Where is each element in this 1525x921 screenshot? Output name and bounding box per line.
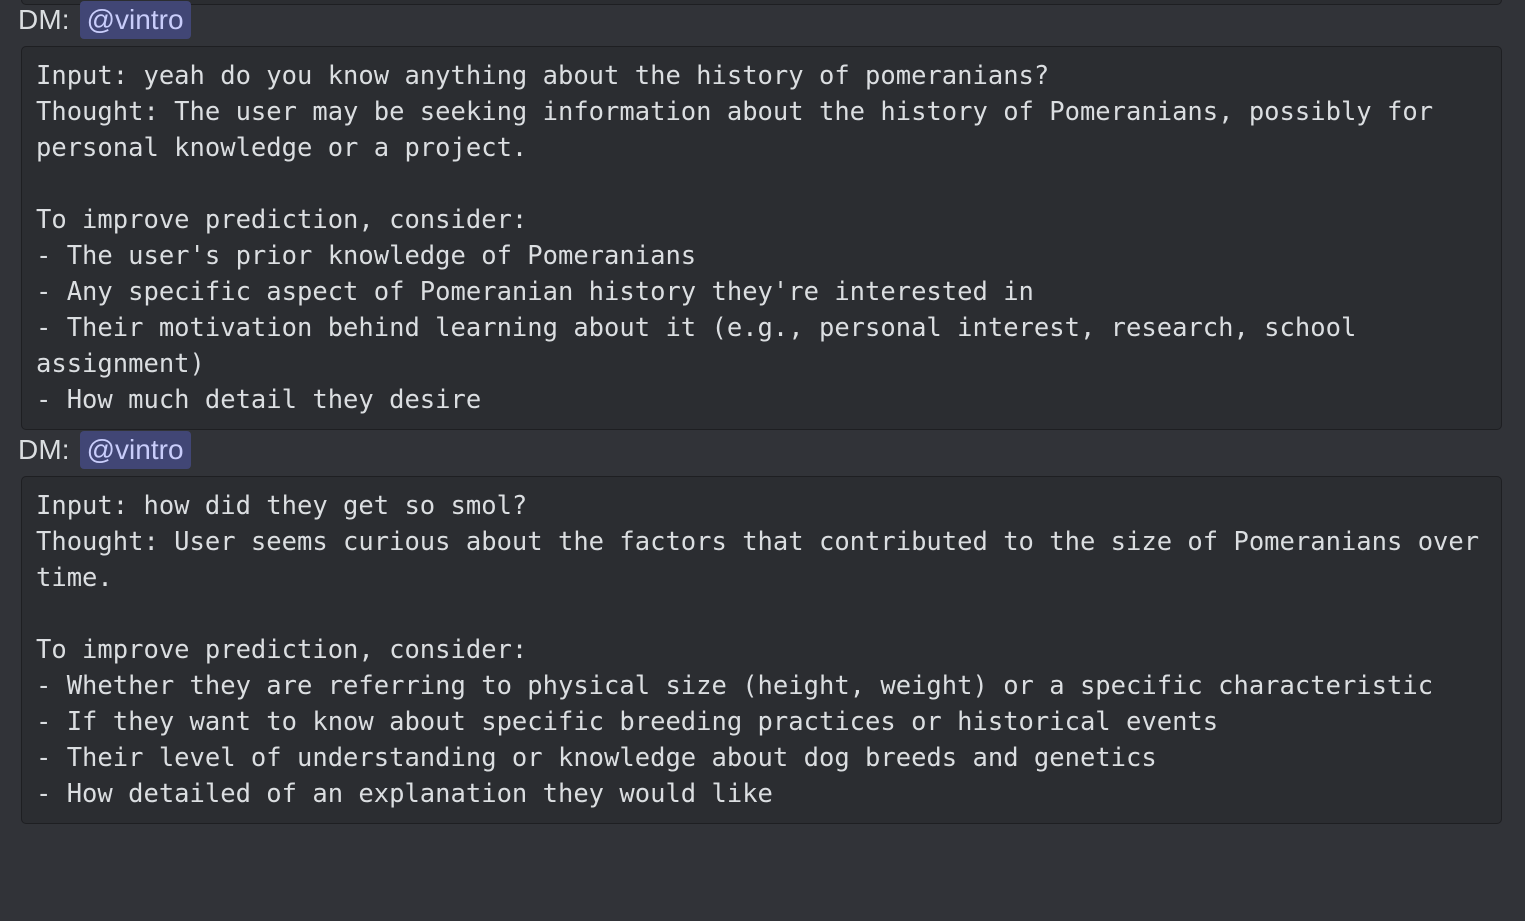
message-item: DM: @vintro Input: yeah do you know anyt… (0, 0, 1525, 430)
dm-label: DM: (18, 3, 70, 37)
chat-message-list: DM: @vintro Input: yeah do you know anyt… (0, 0, 1525, 824)
dm-label: DM: (18, 433, 70, 467)
code-block[interactable]: Input: yeah do you know anything about t… (21, 46, 1502, 430)
user-mention-vintro[interactable]: @vintro (80, 431, 191, 469)
message-item: DM: @vintro Input: how did they get so s… (0, 430, 1525, 824)
code-block[interactable]: Input: how did they get so smol? Thought… (21, 476, 1502, 824)
code-block-content: Input: how did they get so smol? Thought… (22, 488, 1501, 812)
dm-header: DM: @vintro (0, 430, 1525, 470)
user-mention-vintro[interactable]: @vintro (80, 1, 191, 39)
code-block-content: Input: yeah do you know anything about t… (22, 58, 1501, 418)
dm-header: DM: @vintro (0, 0, 1525, 40)
